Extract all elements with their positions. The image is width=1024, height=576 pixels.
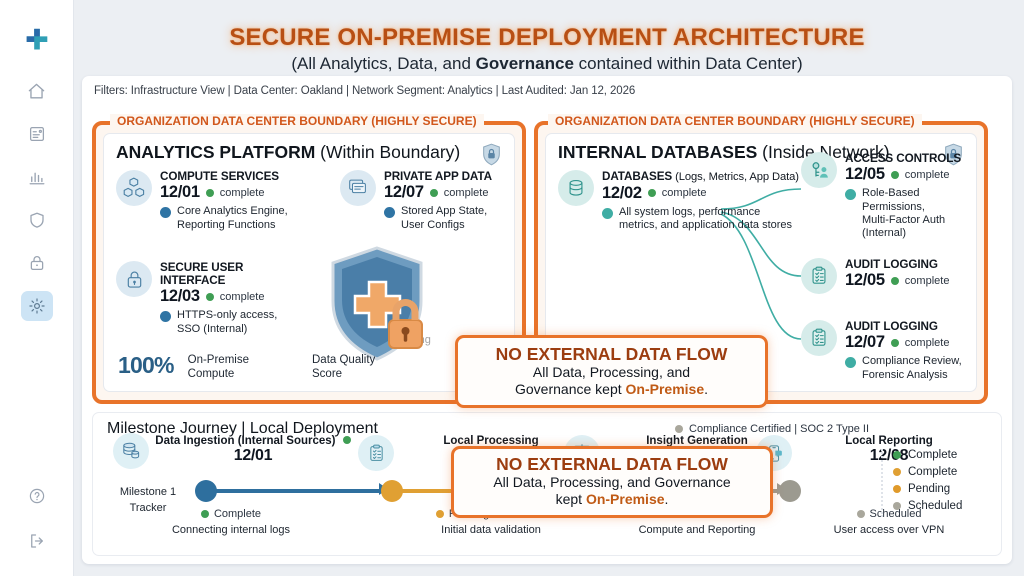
private-app-data-title: PRIVATE APP DATA: [384, 170, 518, 183]
app-root: SECURE ON-PREMISE DEPLOYMENT ARCHITECTUR…: [0, 0, 1024, 576]
private-app-data-detail-row: Stored App State, User Configs: [384, 205, 518, 232]
analytics-panel-subtitle: (Within Boundary): [315, 142, 460, 162]
step-3-desc: Compute and Reporting: [617, 524, 777, 536]
page-subtitle: (All Analytics, Data, and Governance con…: [82, 54, 1012, 74]
sidebar-item-security[interactable]: [21, 205, 53, 235]
data-quality-score-label: Data Quality Score: [312, 354, 375, 382]
legend-item: Scheduled: [893, 500, 989, 512]
on-premise-compute-label: On-Premise Compute: [188, 354, 249, 382]
compute-services-date-row: 12/01 complete: [160, 183, 306, 202]
audit-logging-2-detail-row: Compliance Review, Forensic Analysis: [845, 355, 981, 382]
step-1-desc: Connecting internal logs: [116, 524, 346, 536]
subtitle-post: contained within Data Center): [574, 54, 803, 73]
item-private-app-data: PRIVATE APP DATA 12/07 complete Stored A…: [340, 170, 518, 232]
access-controls-detail-row: Role-Based Permissions, Multi-Factor Aut…: [845, 187, 981, 241]
database-icon: [558, 170, 594, 206]
bullet-icon: [160, 311, 171, 322]
callout-1-title: NO EXTERNAL DATA FLOW: [464, 345, 759, 364]
callout-2-title: NO EXTERNAL DATA FLOW: [460, 455, 764, 474]
databases-detail-row: All system logs, performance metrics, an…: [602, 206, 803, 233]
main-content: SECURE ON-PREMISE DEPLOYMENT ARCHITECTUR…: [74, 0, 1024, 576]
secure-user-interface-date-row: 12/03 complete: [160, 287, 301, 306]
step-4-node[interactable]: [779, 480, 801, 502]
sidebar-item-reports[interactable]: [21, 119, 53, 149]
step-1-status-row: Complete: [151, 508, 311, 520]
legend-label: Pending: [908, 483, 950, 495]
legend-dot: [893, 485, 901, 493]
audit-logging-2-status: complete: [905, 337, 950, 349]
sidebar-item-logout[interactable]: [21, 526, 53, 556]
callout-no-external-data-flow-2: NO EXTERNAL DATA FLOW All Data, Processi…: [451, 446, 773, 518]
audit-logging-1-date: 12/05: [845, 271, 885, 290]
databases-body: DATABASES (Logs, Metrics, App Data) 12/0…: [602, 170, 803, 232]
audit-logging-1-date-row: 12/05 complete: [845, 271, 981, 290]
content-card: Filters: Infrastructure View | Data Cent…: [82, 76, 1012, 564]
sidebar-bottom-nav: [21, 481, 53, 556]
item-access-controls: ACCESS CONTROLS 12/05 complete Role-Base…: [801, 152, 981, 241]
status-dot: [430, 189, 438, 197]
private-app-data-status: complete: [444, 187, 489, 199]
analytics-platform-panel: ANALYTICS PLATFORM (Within Boundary): [103, 133, 515, 392]
secure-user-interface-status: complete: [220, 291, 265, 303]
subtitle-bold: Governance: [476, 54, 574, 73]
legend-item: Pending: [893, 483, 989, 495]
access-controls-title: ACCESS CONTROLS: [845, 152, 981, 165]
step-4-status-dot: [857, 510, 865, 518]
shield-lock-illustration: [319, 242, 439, 367]
secure-user-interface-detail-row: HTTPS-only access, SSO (Internal): [160, 309, 301, 336]
shield-lock-icon: [481, 143, 502, 166]
status-dot: [648, 189, 656, 197]
compute-services-status: complete: [220, 187, 265, 199]
compute-services-body: COMPUTE SERVICES 12/01 complete Core Ana…: [160, 170, 306, 232]
clipboard-check-icon: [358, 435, 394, 471]
sidebar-item-settings[interactable]: [21, 291, 53, 321]
legend-item: Complete: [893, 449, 989, 461]
step-2-status-dot: [436, 510, 444, 518]
legend-label: Scheduled: [908, 500, 962, 512]
secure-user-interface-detail: HTTPS-only access, SSO (Internal): [177, 309, 277, 336]
callout-1-line2: Governance kept On-Premise.: [464, 381, 759, 398]
cross-logo-icon[interactable]: [22, 26, 52, 56]
item-compute-services: COMPUTE SERVICES 12/01 complete Core Ana…: [116, 170, 306, 232]
bullet-icon: [845, 189, 856, 200]
databases-title: DATABASES (Logs, Metrics, App Data): [602, 170, 803, 184]
sidebar-nav: [21, 76, 53, 321]
bullet-icon: [602, 208, 613, 219]
compute-services-detail-row: Core Analytics Engine, Reporting Functio…: [160, 205, 306, 232]
private-app-data-detail: Stored App State, User Configs: [401, 205, 487, 232]
step-1-status-dot: [201, 510, 209, 518]
on-premise-compute-stat: 100% On-Premise Compute: [118, 354, 249, 382]
audit-logging-1-status: complete: [905, 275, 950, 287]
audit-logging-2-detail: Compliance Review, Forensic Analysis: [862, 355, 962, 382]
callout-no-external-data-flow-1: NO EXTERNAL DATA FLOW All Data, Processi…: [455, 335, 768, 408]
step-1-node[interactable]: [195, 480, 217, 502]
status-dot: [206, 293, 214, 301]
cards-stack-icon: [340, 170, 376, 206]
access-controls-body: ACCESS CONTROLS 12/05 complete Role-Base…: [845, 152, 981, 241]
bullet-icon: [845, 357, 856, 368]
legend-item: Complete: [893, 466, 989, 478]
secure-user-interface-date: 12/03: [160, 287, 200, 306]
sidebar-item-help[interactable]: [21, 481, 53, 511]
access-controls-detail: Role-Based Permissions, Multi-Factor Aut…: [862, 187, 981, 241]
sidebar-item-analytics[interactable]: [21, 162, 53, 192]
compute-services-detail: Core Analytics Engine, Reporting Functio…: [177, 205, 288, 232]
audit-logging-2-body: AUDIT LOGGING 12/07 complete Compliance …: [845, 320, 981, 382]
status-dot: [206, 189, 214, 197]
page-title: SECURE ON-PREMISE DEPLOYMENT ARCHITECTUR…: [82, 24, 1012, 52]
status-dot: [891, 339, 899, 347]
step-1-label-dot: [343, 436, 351, 444]
status-dot: [891, 277, 899, 285]
analytics-panel-heading: ANALYTICS PLATFORM (Within Boundary): [104, 134, 514, 163]
item-secure-user-interface: SECURE USER INTERFACE 12/03 complete HTT…: [116, 261, 301, 336]
callout-1-line2-post: .: [704, 381, 708, 397]
legend-dot: [893, 502, 901, 510]
private-app-data-body: PRIVATE APP DATA 12/07 complete Stored A…: [384, 170, 518, 232]
clipboard-check-icon: [801, 320, 837, 356]
access-controls-date-row: 12/05 complete: [845, 165, 981, 184]
callout-1-line2-pre: Governance kept: [515, 381, 626, 397]
step-2-desc: Initial data validation: [411, 524, 571, 536]
private-app-data-date-row: 12/07 complete: [384, 183, 518, 202]
callout-2-line2-pre: kept: [556, 491, 586, 507]
left-sidebar: [0, 0, 74, 576]
page-header: SECURE ON-PREMISE DEPLOYMENT ARCHITECTUR…: [82, 12, 1012, 74]
compute-services-title: COMPUTE SERVICES: [160, 170, 306, 183]
callout-2-line1: All Data, Processing, and Governance: [460, 474, 764, 491]
on-premise-compute-value: 100%: [118, 354, 174, 377]
audit-logging-2-date: 12/07: [845, 333, 885, 352]
callout-1-line1: All Data, Processing, and: [464, 364, 759, 381]
milestone-legend: Complete Complete Pending Scheduled: [881, 449, 989, 517]
databases-date: 12/02: [602, 184, 642, 203]
audit-logging-1-title: AUDIT LOGGING: [845, 258, 981, 271]
clipboard-check-icon: [801, 258, 837, 294]
key-user-icon: [801, 152, 837, 188]
databases-detail: All system logs, performance metrics, an…: [619, 206, 792, 233]
callout-2-line2: kept On-Premise.: [460, 491, 764, 508]
bullet-icon: [384, 207, 395, 218]
legend-dot: [893, 451, 901, 459]
step-1-label: Data Ingestion (Internal Sources): [155, 435, 335, 447]
left-boundary-label: ORGANIZATION DATA CENTER BOUNDARY (HIGHL…: [110, 114, 484, 128]
audit-logging-1-body: AUDIT LOGGING 12/05 complete: [845, 258, 981, 290]
callout-2-emphasis: On-Premise: [586, 491, 665, 507]
filter-bar[interactable]: Filters: Infrastructure View | Data Cent…: [82, 76, 1012, 97]
step-4-label: Local Reporting: [845, 435, 933, 447]
access-controls-status: complete: [905, 169, 950, 181]
sidebar-item-privacy[interactable]: [21, 248, 53, 278]
cubes-icon: [116, 170, 152, 206]
step-2-node[interactable]: [381, 480, 403, 502]
status-dot: [891, 171, 899, 179]
secure-user-interface-title: SECURE USER INTERFACE: [160, 261, 301, 287]
audit-logging-2-title: AUDIT LOGGING: [845, 320, 981, 333]
databases-title-main: DATABASES: [602, 170, 672, 183]
item-audit-logging-2: AUDIT LOGGING 12/07 complete Compliance …: [801, 320, 981, 382]
callout-2-line2-post: .: [665, 491, 669, 507]
databases-date-row: 12/02 complete: [602, 184, 803, 203]
private-app-data-date: 12/07: [384, 183, 424, 202]
step-1-label-group: Data Ingestion (Internal Sources) 12/01: [138, 435, 368, 465]
item-databases: DATABASES (Logs, Metrics, App Data) 12/0…: [558, 170, 803, 232]
audit-logging-2-date-row: 12/07 complete: [845, 333, 981, 352]
sidebar-item-home[interactable]: [21, 76, 53, 106]
bullet-icon: [160, 207, 171, 218]
step-1-status: Complete: [214, 508, 261, 520]
subtitle-pre: (All Analytics, Data, and: [291, 54, 475, 73]
databases-status: complete: [662, 187, 707, 199]
track-segment-1: [203, 489, 383, 493]
legend-dot: [893, 468, 901, 476]
lock-user-icon: [116, 261, 152, 297]
analytics-panel-title: ANALYTICS PLATFORM: [116, 142, 315, 162]
databases-panel-title: INTERNAL DATABASES: [558, 142, 757, 162]
databases-title-note: (Logs, Metrics, App Data): [672, 171, 799, 183]
legend-label: Complete: [908, 449, 957, 461]
callout-1-emphasis: On-Premise: [626, 381, 705, 397]
legend-label: Complete: [908, 466, 957, 478]
step-4-desc: User access over VPN: [809, 524, 969, 536]
secure-user-interface-body: SECURE USER INTERFACE 12/03 complete HTT…: [160, 261, 301, 336]
item-audit-logging-1: AUDIT LOGGING 12/05 complete: [801, 258, 981, 290]
right-boundary-label: ORGANIZATION DATA CENTER BOUNDARY (HIGHL…: [548, 114, 922, 128]
access-controls-date: 12/05: [845, 165, 885, 184]
step-1-date: 12/01: [138, 447, 368, 465]
compute-services-date: 12/01: [160, 183, 200, 202]
